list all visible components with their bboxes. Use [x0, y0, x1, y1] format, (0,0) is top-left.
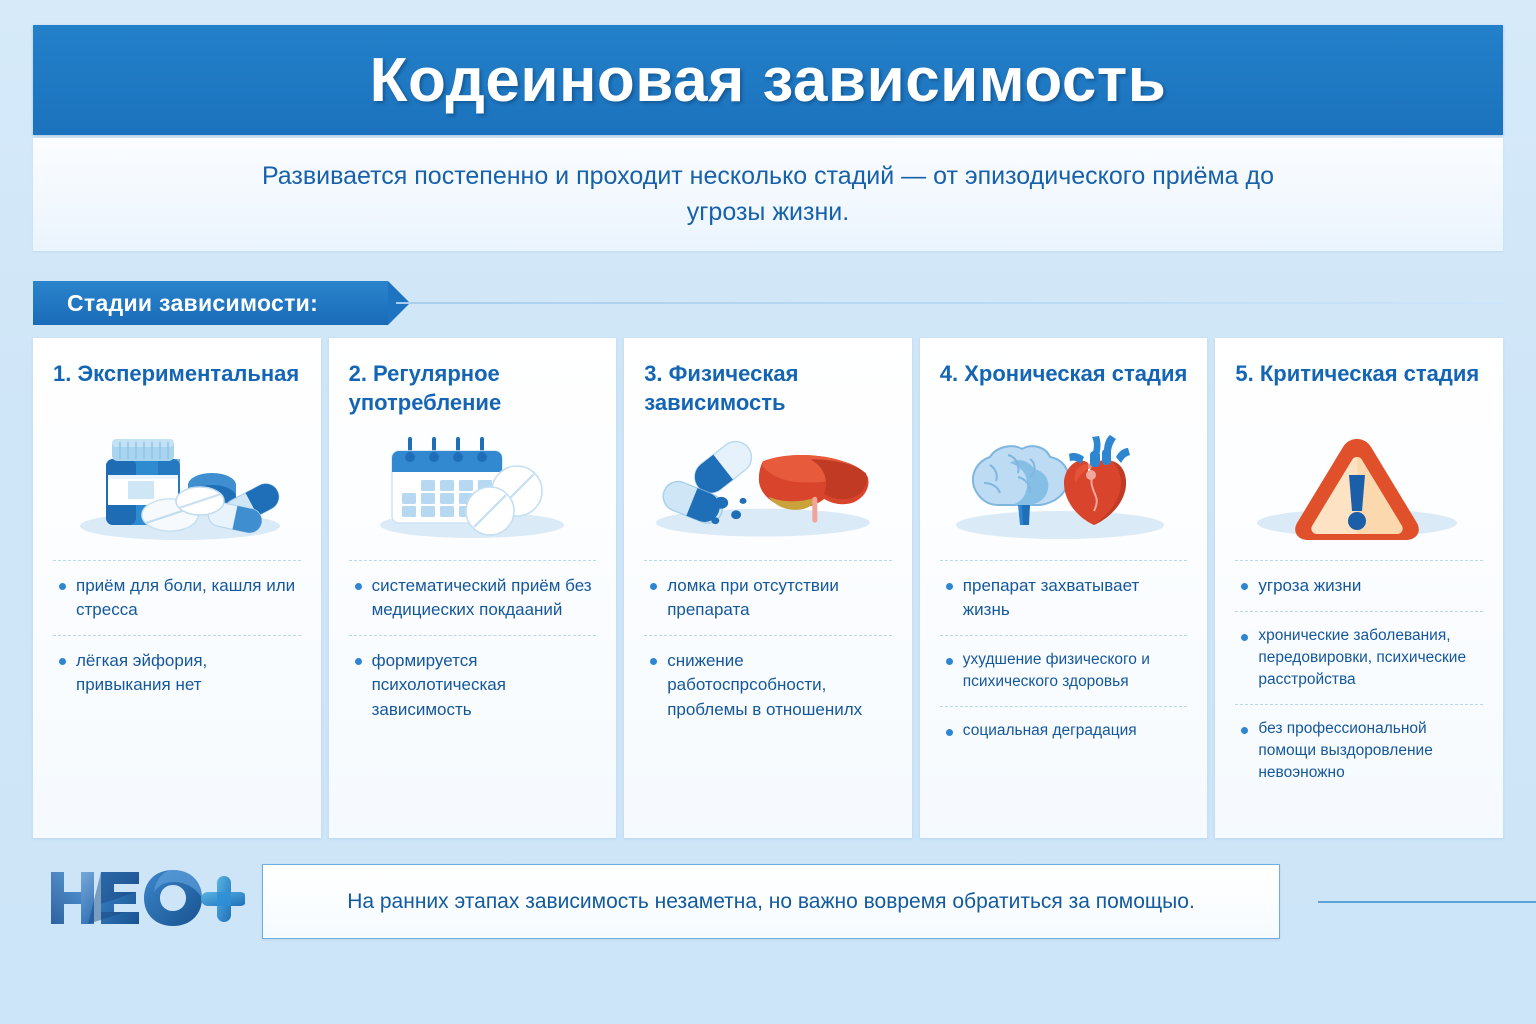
- subtitle-panel: Развивается постепенно и проходит нескол…: [33, 138, 1503, 251]
- stage-card-title: 3. Физическая зависимость: [644, 360, 892, 426]
- subtitle-text: Развивается постепенно и проходит нескол…: [253, 159, 1283, 230]
- stage-card-5[interactable]: 5. Критическая стадия угроза жизни хрони…: [1215, 338, 1503, 838]
- list-item: ухудшение физического и психического здо…: [940, 635, 1188, 706]
- stage-card-title: 2. Регулярное употребление: [349, 360, 597, 426]
- list-item: без профессиональной помощи выздоровлени…: [1235, 704, 1483, 797]
- brand-logo: [45, 862, 245, 934]
- bullet-text: угроза жизни: [1258, 574, 1361, 598]
- stage-card-title: 4. Хроническая стадия: [940, 360, 1188, 426]
- bullet-text: социальная деградация: [963, 720, 1137, 742]
- bullet-text: лёгкая эйфория, привыкания нет: [76, 649, 301, 697]
- header-bar: Кодеиновая зависимость: [33, 25, 1503, 135]
- stage-card-bullets: препарат захватывает жизнь ухудшение физ…: [940, 560, 1188, 755]
- list-item: лёгкая эйфория, привыкания нет: [53, 635, 301, 710]
- bullet-text: приём для боли, кашля или стресса: [76, 574, 301, 622]
- list-item: снижение работоспрсобности, проблемы в о…: [644, 635, 892, 734]
- brain-heart-icon: [940, 428, 1188, 546]
- pill-bottle-icon: [53, 428, 301, 546]
- bullet-text: формируется психолотическая зависимость: [372, 649, 597, 721]
- stage-card-title: 5. Критическая стадия: [1235, 360, 1483, 426]
- bullet-text: препарат захватывает жизнь: [963, 574, 1188, 622]
- stage-card-bullets: систематический приём без медициеских по…: [349, 560, 597, 735]
- stages-banner-label: Стадии зависимости:: [67, 290, 318, 317]
- stages-banner-rule: [396, 302, 1503, 304]
- stage-card-bullets: угроза жизни хронические заболевания, пе…: [1235, 560, 1483, 797]
- bullet-text: снижение работоспрсобности, проблемы в о…: [667, 649, 892, 721]
- stage-card-bullets: ломка при отсутствии препарата снижение …: [644, 560, 892, 735]
- bullet-text: систематический приём без медициеских по…: [372, 574, 597, 622]
- list-item: ломка при отсутствии препарата: [644, 560, 892, 635]
- footer-note-box: На ранних этапах зависимость незаметна, …: [262, 864, 1280, 939]
- bullet-text: ухудшение физического и психического здо…: [963, 649, 1188, 693]
- list-item: систематический приём без медициеских по…: [349, 560, 597, 635]
- stage-card-1[interactable]: 1. Экспериментальная: [33, 338, 321, 838]
- stage-card-bullets: приём для боли, кашля или стресса лёгкая…: [53, 560, 301, 711]
- stage-cards-row: 1. Экспериментальная: [33, 338, 1503, 838]
- stage-card-2[interactable]: 2. Регулярное употребление: [329, 338, 617, 838]
- bullet-text: ломка при отсутствии препарата: [667, 574, 892, 622]
- list-item: приём для боли, кашля или стресса: [53, 560, 301, 635]
- list-item: социальная деградация: [940, 706, 1188, 755]
- capsule-liver-icon: [644, 428, 892, 546]
- bullet-dot-icon: [355, 658, 362, 665]
- bullet-dot-icon: [59, 658, 66, 665]
- calendar-pills-icon: [349, 428, 597, 546]
- bullet-text: без профессиональной помощи выздоровлени…: [1258, 718, 1483, 784]
- stage-card-4[interactable]: 4. Хроническая стадия: [920, 338, 1208, 838]
- bullet-dot-icon: [1241, 583, 1248, 590]
- bullet-dot-icon: [59, 583, 66, 590]
- bullet-dot-icon: [946, 658, 953, 665]
- bullet-dot-icon: [946, 583, 953, 590]
- list-item: формируется психолотическая зависимость: [349, 635, 597, 734]
- bullet-dot-icon: [650, 658, 657, 665]
- bullet-dot-icon: [355, 583, 362, 590]
- footer-rule: [1318, 901, 1536, 903]
- stages-banner: Стадии зависимости:: [33, 281, 388, 325]
- stage-card-title: 1. Экспериментальная: [53, 360, 301, 426]
- list-item: препарат захватывает жизнь: [940, 560, 1188, 635]
- page-title: Кодеиновая зависимость: [370, 45, 1167, 116]
- bullet-dot-icon: [946, 729, 953, 736]
- warning-triangle-icon: [1235, 428, 1483, 546]
- bullet-dot-icon: [1241, 727, 1248, 734]
- list-item: хронические заболевания, передовировки, …: [1235, 611, 1483, 704]
- stage-card-3[interactable]: 3. Физическая зависимость: [624, 338, 912, 838]
- bullet-text: хронические заболевания, передовировки, …: [1258, 625, 1483, 691]
- bullet-dot-icon: [1241, 634, 1248, 641]
- bullet-dot-icon: [650, 583, 657, 590]
- list-item: угроза жизни: [1235, 560, 1483, 611]
- footer-note-text: На ранних этапах зависимость незаметна, …: [347, 890, 1195, 914]
